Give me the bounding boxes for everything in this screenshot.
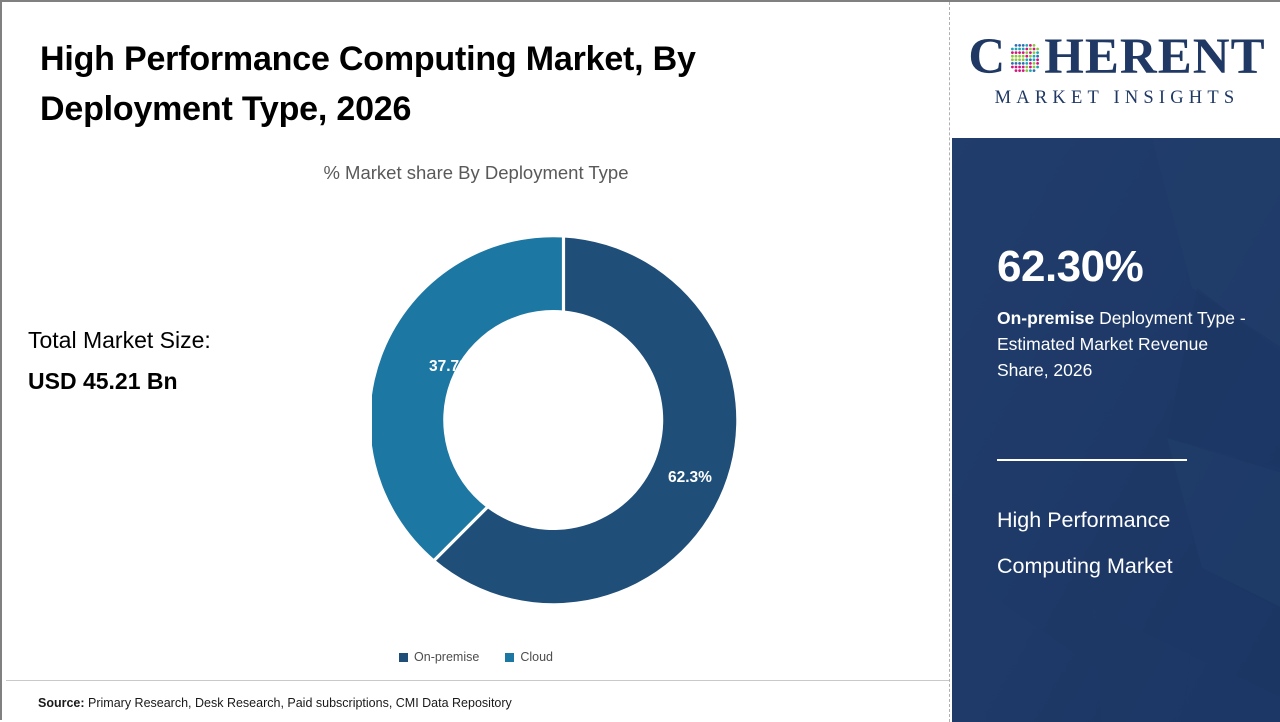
stat-description: On-premise Deployment Type - Estimated M… bbox=[997, 306, 1247, 384]
total-market-size-label: Total Market Size: bbox=[28, 327, 211, 354]
logo-wordmark: C HERENT bbox=[968, 32, 1265, 83]
legend-item-on-premise[interactable]: On-premise bbox=[399, 650, 479, 664]
source-prefix: Source: bbox=[38, 696, 85, 710]
logo-letters-herent: HERENT bbox=[1044, 32, 1265, 83]
donut-label-on-premise: 62.3% bbox=[668, 469, 712, 486]
logo-letter-c: C bbox=[968, 32, 1006, 83]
source-divider bbox=[6, 680, 950, 681]
chart-subtitle: % Market share By Deployment Type bbox=[2, 162, 950, 184]
panel-divider bbox=[949, 2, 950, 722]
page-title: High Performance Computing Market, By De… bbox=[40, 34, 830, 135]
stat-panel-rule bbox=[997, 459, 1187, 461]
chart-legend: On-premise Cloud bbox=[2, 650, 950, 664]
brand-logo[interactable]: C HERENT MARKET INSIGHTS bbox=[952, 2, 1280, 138]
legend-label-cloud: Cloud bbox=[520, 650, 553, 664]
market-name: High Performance Computing Market bbox=[997, 498, 1247, 589]
source-note: Source: Primary Research, Desk Research,… bbox=[38, 696, 512, 710]
total-market-size-value: USD 45.21 Bn bbox=[28, 368, 178, 395]
stat-value: 62.30% bbox=[997, 245, 1143, 289]
donut-chart-svg: 37.7% 62.3% bbox=[372, 229, 755, 612]
left-panel: High Performance Computing Market, By De… bbox=[2, 2, 950, 722]
donut-slice-cloud[interactable] bbox=[372, 237, 564, 559]
globe-icon bbox=[1007, 40, 1043, 76]
source-text: Primary Research, Desk Research, Paid su… bbox=[85, 696, 512, 710]
legend-item-cloud[interactable]: Cloud bbox=[505, 650, 553, 664]
legend-swatch-cloud bbox=[505, 653, 514, 662]
donut-chart: 37.7% 62.3% bbox=[372, 229, 755, 612]
stat-panel: 62.30% On-premise Deployment Type - Esti… bbox=[952, 138, 1280, 722]
donut-label-cloud: 37.7% bbox=[429, 358, 473, 375]
infographic-canvas: High Performance Computing Market, By De… bbox=[0, 0, 1280, 720]
logo-tagline: MARKET INSIGHTS bbox=[995, 88, 1240, 109]
legend-label-on-premise: On-premise bbox=[414, 650, 479, 664]
stat-description-highlight: On-premise bbox=[997, 308, 1094, 328]
stat-panel-content: 62.30% On-premise Deployment Type - Esti… bbox=[997, 138, 1257, 722]
legend-swatch-on-premise bbox=[399, 653, 408, 662]
